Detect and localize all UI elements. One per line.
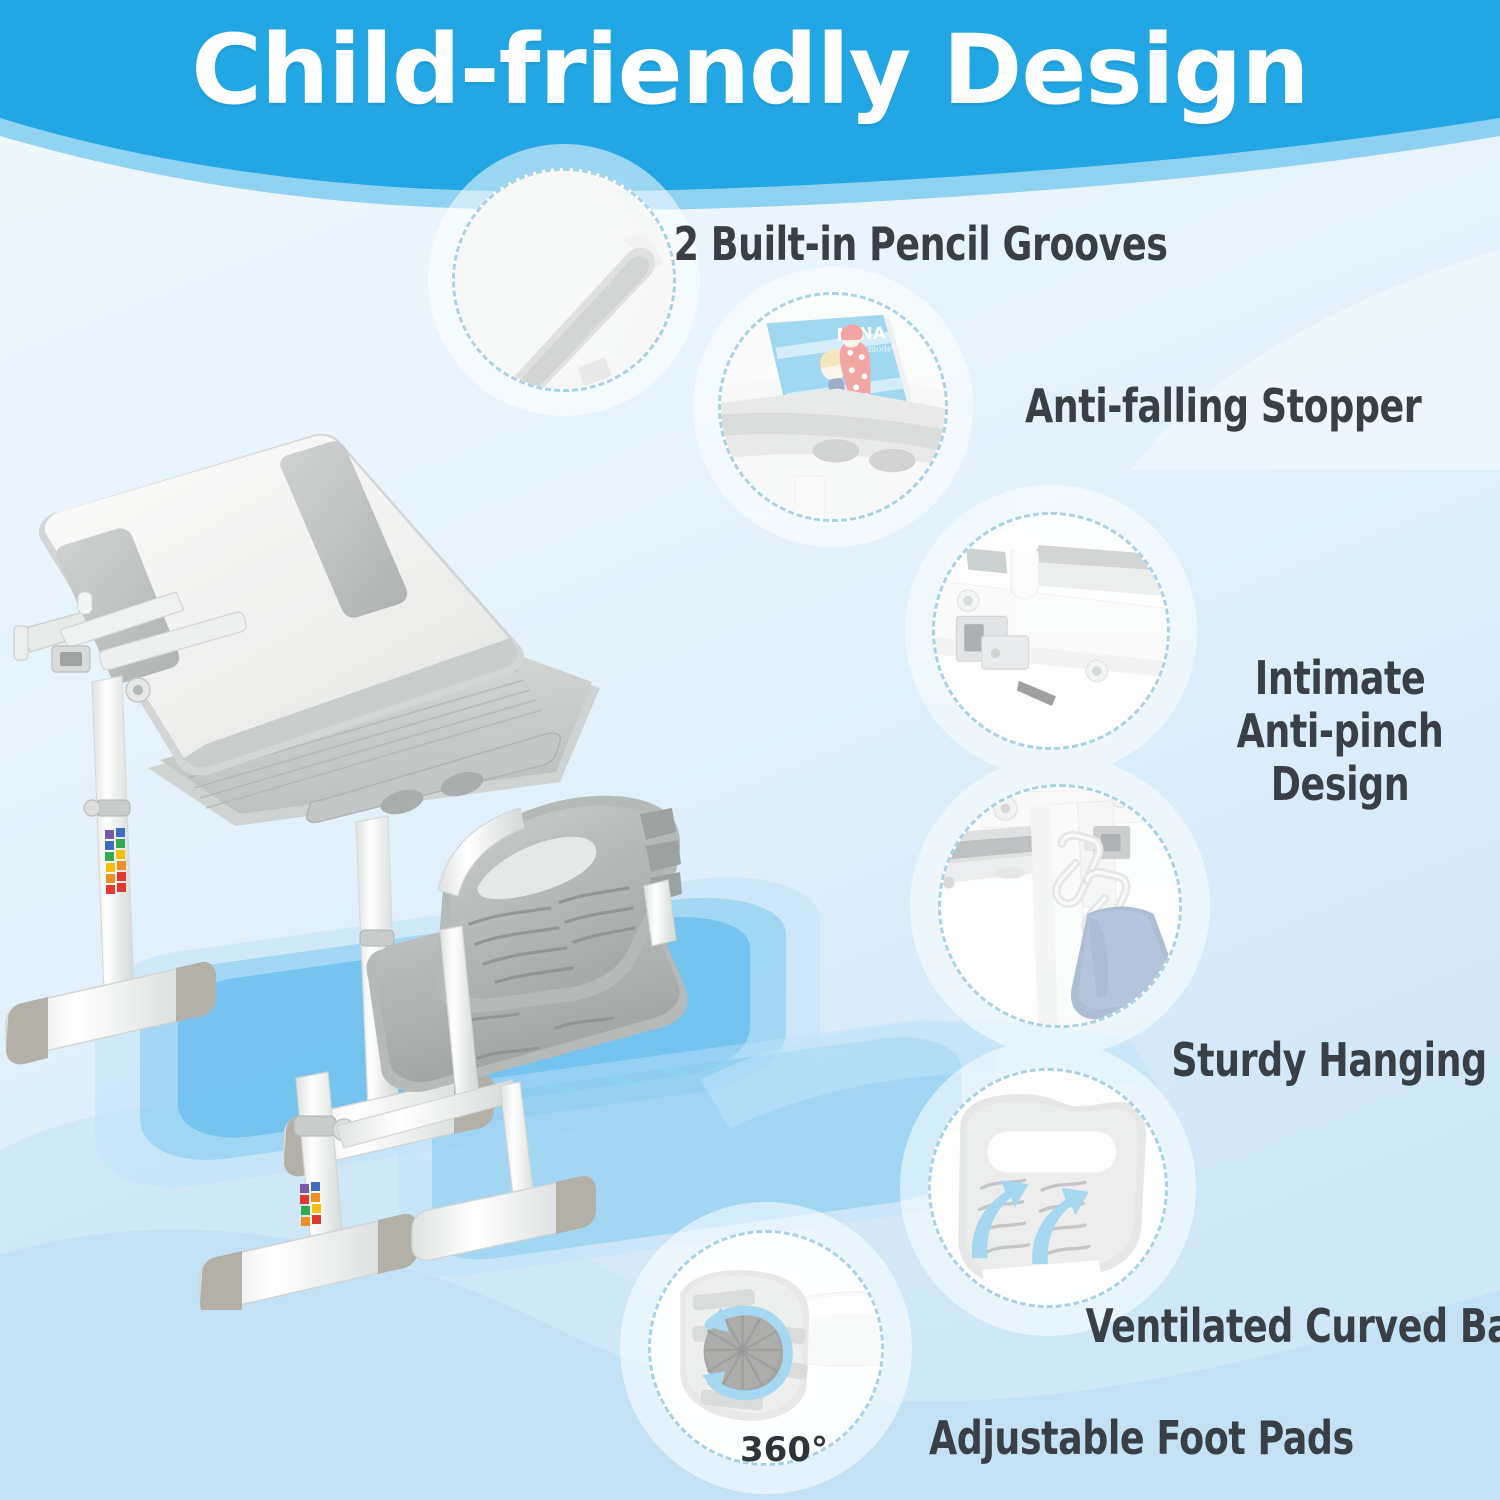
label-anti-pinch-line2: Anti-pinch Design (1237, 704, 1444, 811)
label-ventilated-backrest: Ventilated Curved Backrest (1086, 1300, 1500, 1353)
callout-ventilated-backrest (928, 1068, 1168, 1308)
label-pencil-grooves: 2 Built-in Pencil Grooves (674, 218, 1168, 271)
callout-pencil-grooves (452, 168, 676, 392)
infographic-canvas: Child-friendly Design (0, 0, 1500, 1500)
label-anti-pinch-line1: Intimate (1255, 651, 1425, 705)
label-adjustable-foot-pads: Adjustable Foot Pads (929, 1412, 1354, 1465)
label-anti-falling-stopper: Anti-falling Stopper (1025, 380, 1421, 433)
badge-360-degrees: 360° (740, 1430, 828, 1470)
page-title: Child-friendly Design (0, 14, 1500, 126)
callout-sturdy-hanging-hook (938, 784, 1182, 1028)
callout-anti-pinch-design (932, 512, 1170, 750)
label-anti-pinch-design: Intimate Anti-pinch Design (1182, 652, 1499, 811)
callout-anti-falling-stopper: MINA à la mode (718, 292, 948, 522)
label-sturdy-hanging-hook: Sturdy Hanging Hook (1171, 1034, 1500, 1087)
